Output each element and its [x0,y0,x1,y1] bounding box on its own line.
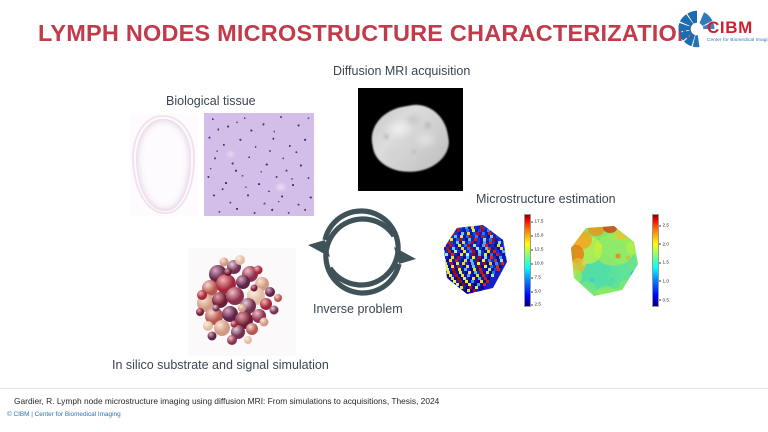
cibm-logo: CIBM Center for Biomedical Imaging [676,6,764,52]
parameter-map-left-render [437,220,515,300]
parameter-map-right [562,220,646,300]
mri-lymph-node-blob [367,100,453,178]
colorbar-left-ticks: 17.5 15.0 12.5 10.0 7.5 5.0 2.5 [531,214,557,307]
cbar-a-tick-5: 5.0 [535,289,541,294]
node-capsule-outline [132,115,195,214]
colorbar-left: 17.5 15.0 12.5 10.0 7.5 5.0 2.5 [524,214,557,307]
label-microstructure-estimation: Microstructure estimation [476,192,616,206]
cbar-b-tick-4: 0.5 [663,297,669,302]
footer-divider [0,388,768,389]
cbar-a-tick-3: 10.0 [535,261,544,266]
colorbar-right: 2.5 2.0 1.5 1.0 0.5 [652,214,685,307]
cbar-a-tick-4: 7.5 [535,275,541,280]
colorbar-right-ticks: 2.5 2.0 1.5 1.0 0.5 [659,214,685,307]
cbar-b-tick-1: 2.0 [663,241,669,246]
cbar-a-tick-6: 2.5 [535,302,541,307]
histology-low-mag-image [130,113,198,216]
colorbar-right-gradient [652,214,659,307]
slide-canvas: LYMPH NODES MICROSTRUCTURE CHARACTERIZAT… [0,0,768,432]
inverse-problem-cycle-icon [303,206,421,298]
citation-text: Gardier, R. Lymph node microstructure im… [14,396,439,406]
parameter-map-right-render [562,220,646,300]
cibm-tagline: Center for Biomedical Imaging [707,37,768,42]
label-diffusion-mri: Diffusion MRI acquisition [333,64,470,78]
page-title: LYMPH NODES MICROSTRUCTURE CHARACTERIZAT… [38,20,678,47]
colorbar-left-gradient [524,214,531,307]
copyright-text: © CIBM | Center for Biomedical Imaging [7,411,121,418]
cibm-wordmark: CIBM [707,18,753,38]
cbar-b-tick-2: 1.5 [663,260,669,265]
label-inverse-problem: Inverse problem [313,302,403,316]
lymphocyte-field-overlay [204,113,314,216]
circular-arrows-icon [303,206,421,298]
cbar-b-tick-0: 2.5 [663,223,669,228]
cbar-a-tick-1: 15.0 [535,233,544,238]
cbar-a-tick-2: 12.5 [535,247,544,252]
label-in-silico-substrate: In silico substrate and signal simulatio… [112,358,329,372]
cbar-b-tick-3: 1.0 [663,278,669,283]
parameter-map-left [437,220,515,300]
cbar-a-tick-0: 17.5 [535,219,544,224]
label-biological-tissue: Biological tissue [166,94,256,108]
sphere-packing-render [188,248,296,356]
diffusion-mri-image [358,88,463,191]
histology-high-mag-image [204,113,314,216]
in-silico-substrate-image [188,248,296,356]
